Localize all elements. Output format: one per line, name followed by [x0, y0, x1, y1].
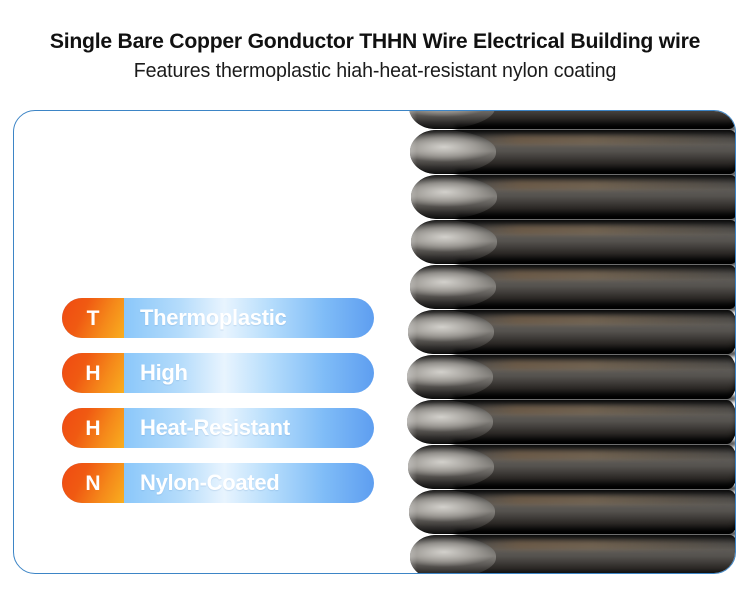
wire-coil-photo: [383, 111, 735, 573]
feature-pill-letter: N: [85, 473, 100, 494]
wire-coil-loop: [410, 130, 735, 174]
feature-pill-letter-box: N: [62, 463, 124, 503]
wire-coil-loop: [409, 111, 735, 129]
coil-loop-sheen: [468, 450, 735, 460]
wire-coil-loop: [408, 445, 735, 489]
coil-loop-sheen: [468, 315, 735, 325]
wire-coil-loop: [411, 220, 735, 264]
feature-pill-letter-box: T: [62, 298, 124, 338]
wire-coil-loop: [410, 265, 735, 309]
wire-coil-loop: [408, 310, 735, 354]
coil-loop-sheen: [467, 405, 735, 415]
heading-block: Single Bare Copper Gonductor THHN Wire E…: [0, 0, 750, 100]
coil-loop-sheen: [470, 540, 735, 550]
wire-coil-loop: [410, 535, 735, 573]
page-subtitle: Features thermoplastic hiah-heat-resista…: [8, 58, 743, 84]
product-banner: Single Bare Copper Gonductor THHN Wire E…: [0, 0, 750, 591]
coil-loop-sheen: [467, 360, 735, 370]
feature-pill-letter-box: H: [62, 353, 124, 393]
feature-pill: HHigh: [62, 353, 374, 393]
coil-loop-sheen: [471, 180, 735, 190]
coil-stack: [409, 111, 735, 573]
wire-coil-loop: [411, 175, 735, 219]
coil-loop-sheen: [471, 225, 735, 235]
feature-pill-label: Thermoplastic: [124, 307, 374, 329]
feature-pill-label: High: [124, 362, 374, 384]
wire-coil-loop: [409, 490, 735, 534]
feature-pill: TThermoplastic: [62, 298, 374, 338]
feature-card: TThermoplasticHHighHHeat-ResistantNNylon…: [13, 110, 736, 574]
feature-pill-letter: H: [85, 418, 100, 439]
feature-pill-letter: H: [85, 363, 100, 384]
page-title: Single Bare Copper Gonductor THHN Wire E…: [6, 28, 745, 54]
coil-loop-sheen: [470, 135, 735, 145]
feature-pill: NNylon-Coated: [62, 463, 374, 503]
coil-loop-end-highlight: [410, 265, 496, 309]
feature-pill-letter-box: H: [62, 408, 124, 448]
feature-pill-label: Nylon-Coated: [124, 472, 374, 494]
coil-loop-sheen: [470, 270, 735, 280]
wire-coil-loop: [407, 355, 735, 399]
coil-loop-sheen: [469, 495, 735, 505]
feature-pill-letter: T: [87, 308, 100, 329]
feature-pill-label: Heat-Resistant: [124, 417, 374, 439]
feature-pill-list: TThermoplasticHHighHHeat-ResistantNNylon…: [62, 298, 374, 503]
feature-pill: HHeat-Resistant: [62, 408, 374, 448]
wire-coil-loop: [407, 400, 735, 444]
